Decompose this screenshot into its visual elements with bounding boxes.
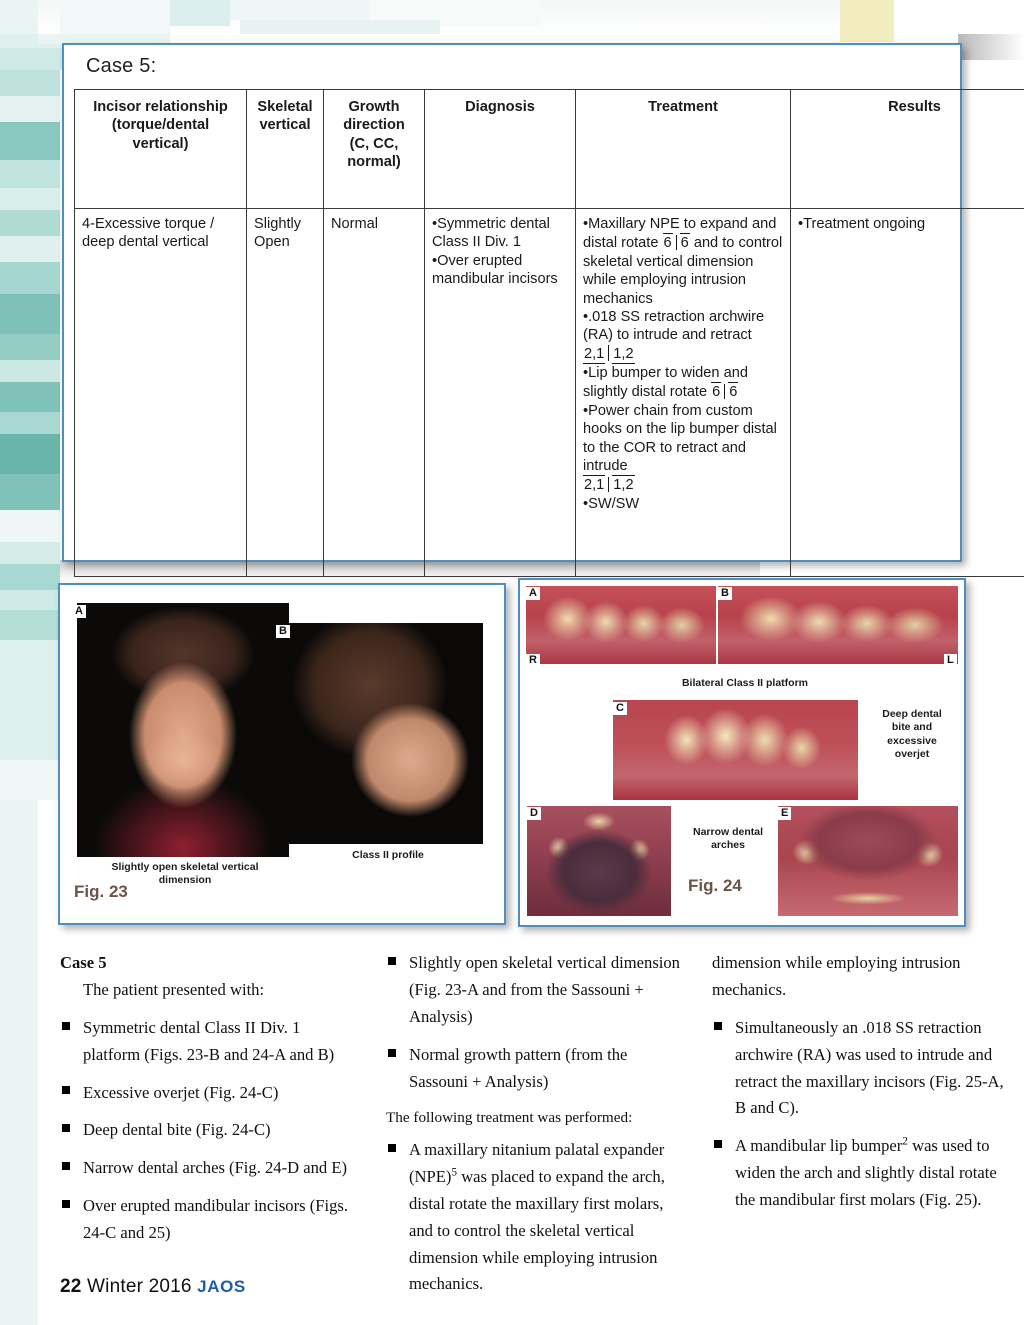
figure-23-number: Fig. 23	[74, 882, 128, 902]
intro-line: The patient presented with:	[83, 977, 360, 1004]
teal-band	[0, 474, 60, 510]
teal-band-wide	[60, 0, 170, 34]
list-item: Deep dental bite (Fig. 24-C)	[60, 1117, 360, 1144]
caption-bilateral: Bilateral Class II platform	[630, 677, 860, 690]
teal-band	[0, 334, 60, 360]
tooth-notation-lower-6-6: 66	[711, 384, 738, 400]
teal-band	[0, 542, 60, 564]
header-results: Results	[791, 90, 1024, 209]
case-heading: Case 5	[60, 950, 360, 977]
teal-band-wide	[170, 0, 230, 26]
diagnosis-bullet: •Symmetric dental Class II Div. 1	[432, 215, 568, 252]
list-item-continuation: dimension while employing intrusion mech…	[712, 950, 1012, 1004]
panel-label-a: A	[526, 587, 540, 600]
figure-24-panel: A R B L Bilateral Class II platform C De…	[518, 578, 966, 927]
treatment-bullet-archwire: •.018 SS retraction archwire (RA) to int…	[583, 309, 764, 362]
list-item: Slightly open skeletal vertical dimensio…	[386, 950, 686, 1031]
journal-name: JAOS	[197, 1277, 246, 1296]
teal-band	[0, 590, 60, 610]
list-item: Over erupted mandibular incisors (Figs. …	[60, 1193, 360, 1247]
list-item: Normal growth pattern (from the Sassouni…	[386, 1042, 686, 1096]
tooth-notation-upper-6-6: 66	[663, 235, 690, 251]
teal-band	[0, 236, 60, 262]
panel-label-b: B	[718, 587, 732, 600]
photo-mandibular-occlusal	[778, 806, 958, 916]
presented-list: Symmetric dental Class II Div. 1 platfor…	[60, 1015, 360, 1247]
teal-band	[0, 188, 60, 210]
figure-24-number: Fig. 24	[688, 876, 742, 896]
table-row: 4-Excessive torque / deep dental vertica…	[75, 209, 1024, 577]
photo-left-buccal	[718, 586, 958, 664]
teal-band	[0, 360, 60, 382]
header-diagnosis: Diagnosis	[425, 90, 576, 209]
teal-band	[0, 640, 60, 760]
treatment-bullet-lip-bumper: •Lip bumper to widen and slightly distal…	[583, 365, 748, 400]
treatment-intro: The following treatment was performed:	[386, 1106, 686, 1131]
list-item: Narrow dental arches (Fig. 24-D and E)	[60, 1155, 360, 1182]
list-item: A mandibular lip bumper2 was used to wid…	[712, 1133, 1012, 1214]
side-label-left: L	[944, 654, 957, 667]
white-notch	[894, 0, 1024, 36]
caption-profile: Class II profile	[308, 849, 468, 862]
teal-band	[0, 262, 60, 294]
panel-label-a: A	[72, 605, 86, 618]
panel-label-b: B	[276, 625, 290, 638]
panel-label-c: C	[613, 702, 627, 715]
treatment-bullet-npe: •Maxillary NPE to expand and distal rota…	[583, 216, 782, 307]
teal-band	[0, 510, 60, 542]
grey-edge-shadow	[958, 34, 1024, 60]
photo-frontal-face	[77, 603, 289, 857]
list-item: Simultaneously an .018 SS retraction arc…	[712, 1015, 1012, 1123]
text-column-3: dimension while employing intrusion mech…	[712, 950, 1012, 1214]
side-label-right: R	[526, 654, 540, 667]
teal-band	[0, 294, 60, 334]
header-skeletal-vertical: Skeletal vertical	[247, 90, 324, 209]
continuation-text: dimension while employing intrusion mech…	[712, 953, 960, 999]
treatment-bullet-power-chain: •Power chain from custom hooks on the li…	[583, 403, 777, 494]
text-column-2: Slightly open skeletal vertical dimensio…	[386, 950, 686, 1298]
photo-maxillary-occlusal	[527, 806, 671, 916]
case-table-panel: Case 5: Incisor relationship (torque/den…	[62, 43, 962, 562]
caption-overjet: Deep dental bite and excessive overjet	[864, 708, 960, 762]
text-column-1: Case 5 The patient presented with: Symme…	[60, 950, 360, 1247]
table-header-row: Incisor relationship (torque/dental vert…	[75, 90, 1024, 209]
list-item: A maxillary nitanium palatal expander (N…	[386, 1137, 686, 1298]
cell-growth-direction: Normal	[324, 209, 425, 577]
cell-skeletal-vertical: Slightly Open	[247, 209, 324, 577]
list-item: Symmetric dental Class II Div. 1 platfor…	[60, 1015, 360, 1069]
page-number: 22	[60, 1276, 82, 1297]
diagnosis-bullet: •Over erupted mandibular incisors	[432, 252, 568, 289]
figure-23-panel: A B Slightly open skeletal vertical dime…	[58, 583, 506, 925]
teal-band	[0, 610, 60, 640]
cell-incisor-relationship: 4-Excessive torque / deep dental vertica…	[75, 209, 247, 577]
teal-band	[0, 434, 60, 474]
treatment-list: A maxillary nitanium palatal expander (N…	[386, 1137, 686, 1298]
photo-frontal-intraoral	[613, 700, 858, 800]
cell-diagnosis: •Symmetric dental Class II Div. 1 •Over …	[425, 209, 576, 577]
tooth-notation-lower-21-12: 2,11,2	[583, 477, 635, 493]
teal-band	[0, 760, 60, 800]
teal-band	[0, 70, 60, 96]
teal-band-wide	[230, 0, 370, 20]
case-summary-table: Incisor relationship (torque/dental vert…	[74, 89, 1024, 577]
photo-profile-face	[281, 623, 483, 844]
article-body: Case 5 The patient presented with: Symme…	[0, 950, 1024, 1280]
teal-band-wide	[240, 20, 440, 34]
teal-band	[0, 122, 60, 160]
header-incisor-relationship: Incisor relationship (torque/dental vert…	[75, 90, 247, 209]
header-treatment: Treatment	[576, 90, 791, 209]
page-footer: 22 Winter 2016 JAOS	[60, 1276, 246, 1298]
treatment-bullet-swsw: •SW/SW	[583, 495, 783, 513]
teal-band	[0, 96, 60, 122]
tooth-notation-upper-21-12: 2,11,2	[583, 346, 635, 362]
panel-label-e: E	[778, 807, 791, 820]
teal-band	[0, 412, 60, 434]
presented-list-continued: Slightly open skeletal vertical dimensio…	[386, 950, 686, 1095]
cell-results: •Treatment ongoing	[791, 209, 1024, 577]
photo-right-buccal	[526, 586, 716, 664]
treatment-text-pre: A mandibular lip bumper	[735, 1136, 902, 1155]
teal-band	[0, 564, 60, 590]
teal-band	[0, 382, 60, 412]
yellow-block	[840, 0, 894, 42]
teal-band	[0, 210, 60, 236]
teal-band	[0, 160, 60, 188]
header-growth-direction: Growth direction (C, CC, normal)	[324, 90, 425, 209]
case-title: Case 5:	[86, 55, 156, 78]
panel-label-d: D	[527, 807, 541, 820]
issue-label: Winter 2016	[87, 1276, 192, 1297]
treatment-list-continued: dimension while employing intrusion mech…	[712, 950, 1012, 1214]
caption-narrow-arches: Narrow dental arches	[680, 826, 776, 853]
cell-treatment: •Maxillary NPE to expand and distal rota…	[576, 209, 791, 577]
list-item: Excessive overjet (Fig. 24-C)	[60, 1080, 360, 1107]
